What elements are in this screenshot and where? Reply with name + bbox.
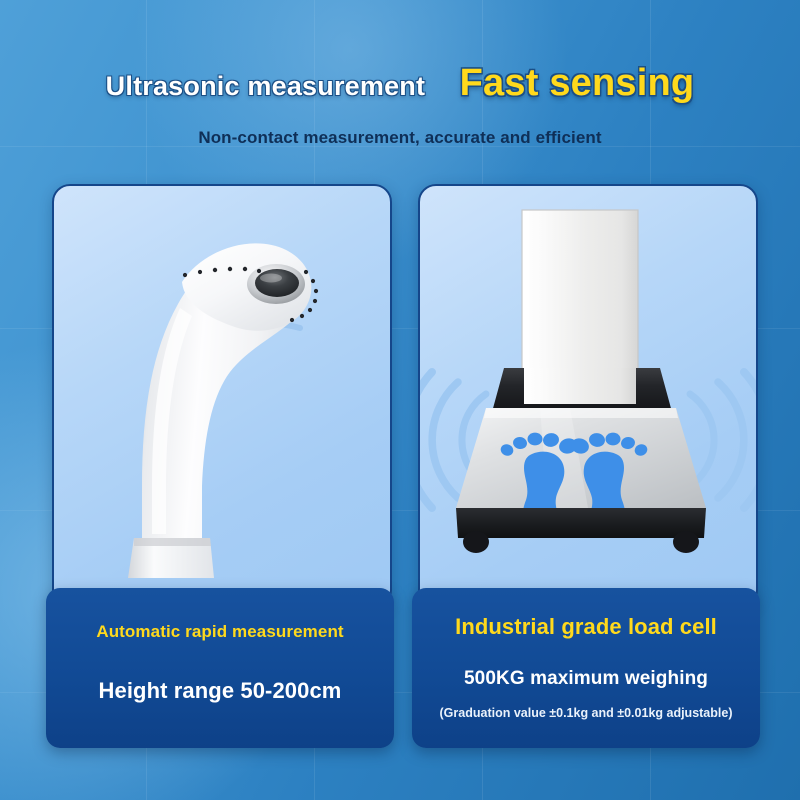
headline-primary: Ultrasonic measurement (106, 71, 426, 101)
sensor-eye-glint (260, 274, 282, 283)
caption-note-load-cell: (Graduation value ±0.1kg and ±0.01kg adj… (412, 706, 760, 720)
scale-column-lower (524, 368, 636, 404)
caption-panel-ultrasonic: Automatic rapid measurement Height range… (46, 588, 394, 748)
ultrasonic-sensor-arm (54, 186, 390, 606)
caption-sub-ultrasonic: Height range 50-200cm (46, 678, 394, 704)
scale-foot-right (673, 531, 699, 553)
feature-card-load-cell (418, 184, 758, 608)
scale-base (456, 508, 706, 538)
headline-accent: Fast sensing (460, 62, 695, 104)
sensor-base-shadow (134, 538, 211, 546)
scale-foot-left (463, 531, 489, 553)
promo-page: Ultrasonic measurement Fast sensing Non-… (0, 0, 800, 800)
caption-title-ultrasonic: Automatic rapid measurement (46, 622, 394, 642)
industrial-weighing-scale (420, 186, 756, 606)
caption-title-load-cell: Industrial grade load cell (412, 614, 760, 640)
headline-row: Ultrasonic measurement Fast sensing (0, 62, 800, 105)
caption-sub-load-cell: 500KG maximum weighing (412, 668, 760, 690)
feature-card-ultrasonic (52, 184, 392, 608)
subtitle: Non-contact measurement, accurate and ef… (0, 128, 800, 148)
platform-top-edge-highlight (484, 408, 678, 418)
scale-wave-arcs-right (690, 372, 756, 508)
sensor-eye-lens (255, 269, 299, 297)
caption-panel-load-cell: Industrial grade load cell 500KG maximum… (412, 588, 760, 748)
